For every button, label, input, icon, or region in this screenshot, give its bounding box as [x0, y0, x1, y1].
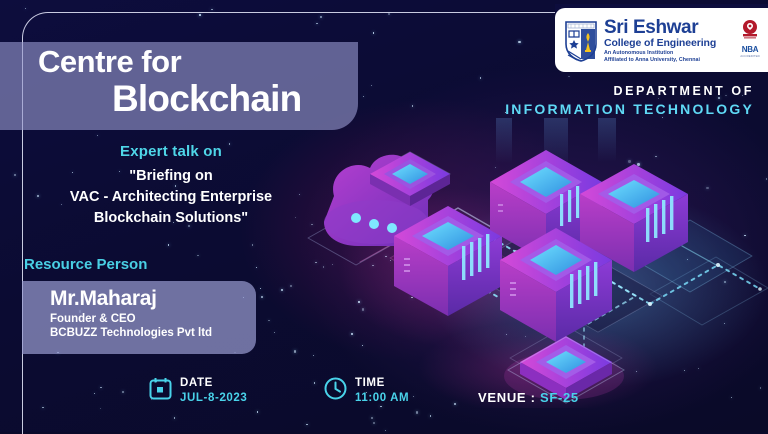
isometric-blockchain-illustration	[298, 118, 768, 408]
page-title-line1: Centre for	[38, 44, 181, 80]
college-subtitle: College of Engineering	[604, 38, 730, 49]
resource-person-organisation: BCBUZZ Technologies Pvt ltd	[50, 327, 256, 339]
talk-block: Expert talk on "Briefing on VAC - Archit…	[40, 143, 302, 226]
page-title-line2: Blockchain	[112, 78, 301, 120]
department-line2: INFORMATION TECHNOLOGY	[505, 101, 754, 117]
calendar-icon	[148, 376, 173, 406]
college-autonomy-line: An Autonomous Institution	[604, 51, 730, 56]
event-meta-bar: DATE JUL-8-2023 TIME 11:00 AM VENUE : SF…	[0, 370, 768, 416]
resource-person-name: Mr.Maharaj	[50, 288, 256, 310]
time-label: TIME	[355, 377, 409, 390]
resource-person-label: Resource Person	[24, 256, 147, 273]
college-name: Sri Eshwar	[604, 18, 730, 37]
event-time: TIME 11:00 AM	[323, 376, 409, 406]
resource-person-card: Mr.Maharaj Founder & CEO BCBUZZ Technolo…	[22, 281, 256, 354]
event-time-text: TIME 11:00 AM	[355, 377, 409, 405]
accreditation-badges: NBA ACCREDITED	[736, 18, 764, 62]
event-date-text: DATE JUL-8-2023	[180, 377, 247, 405]
venue-label: VENUE :	[478, 390, 540, 405]
college-crest-icon	[564, 18, 598, 62]
time-value: 11:00 AM	[355, 392, 409, 405]
clock-icon	[323, 376, 348, 406]
talk-title-line3: Blockchain Solutions"	[40, 210, 302, 226]
college-affiliation-line: Affiliated to Anna University, Chennai	[604, 58, 730, 63]
event-venue: VENUE : SF-25	[478, 390, 579, 405]
iso-certification-badge-icon	[739, 18, 761, 40]
college-logo-text: Sri Eshwar College of Engineering An Aut…	[604, 17, 730, 63]
talk-title-line2: VAC - Architecting Enterprise	[40, 189, 302, 205]
college-logo: Sri Eshwar College of Engineering An Aut…	[555, 8, 768, 72]
nba-badge-label: NBA	[742, 46, 758, 54]
venue-value: SF-25	[540, 390, 579, 405]
nba-accreditation-badge: NBA ACCREDITED	[737, 43, 763, 62]
department-line1: DEPARTMENT OF	[505, 84, 754, 98]
resource-person-role: Founder & CEO	[50, 313, 256, 325]
talk-heading: Expert talk on	[40, 143, 302, 160]
department-heading: DEPARTMENT OF INFORMATION TECHNOLOGY	[505, 84, 754, 117]
date-value: JUL-8-2023	[180, 392, 247, 405]
nba-badge-sub: ACCREDITED	[740, 55, 760, 58]
talk-title-line1: "Briefing on	[40, 168, 302, 184]
event-date: DATE JUL-8-2023	[148, 376, 247, 406]
date-label: DATE	[180, 377, 247, 390]
